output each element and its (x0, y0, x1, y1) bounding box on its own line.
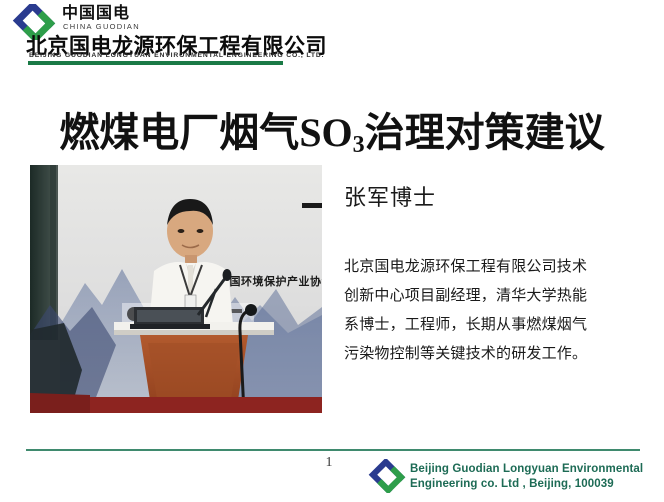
speaker-bio-line: 创新中心项目副经理，清华大学热能 (344, 281, 644, 310)
speaker-bio: 北京国电龙源环保工程有限公司技术 创新中心项目副经理，清华大学热能 系博士，工程… (344, 252, 644, 368)
title-part-2: 治理对策建议 (365, 110, 605, 156)
company-name-en: BEIJING GUODIAN LONGYUAN ENVIRONMENTAL E… (29, 52, 324, 59)
footer-address-line-1: Beijing Guodian Longyuan Environmental (410, 462, 643, 477)
title-part-1: 燃煤电厂烟气 (59, 110, 299, 156)
title-formula-subscript: 3 (353, 132, 365, 158)
footer-address: Beijing Guodian Longyuan Environmental E… (410, 462, 643, 492)
footer-divider (26, 449, 640, 451)
speaker-name: 张军博士 (344, 180, 436, 212)
header-green-rule (28, 61, 283, 65)
speaker-bio-line: 北京国电龙源环保工程有限公司技术 (344, 252, 644, 281)
title-formula-base: SO (299, 110, 352, 155)
presentation-slide: 中国国电 CHINA GUODIAN 北京国电龙源环保工程有限公司 BEIJIN… (0, 0, 664, 502)
brand-name-cn: 中国国电 (62, 4, 130, 22)
letterhead-header: 中国国电 CHINA GUODIAN 北京国电龙源环保工程有限公司 BEIJIN… (0, 0, 664, 70)
footer-address-line-2: Engineering co. Ltd , Beijing, 100039 (410, 477, 643, 492)
page-title: 燃煤电厂烟气SO3治理对策建议 (0, 105, 664, 167)
speaker-photo: 中国环境保护产业协会 (30, 165, 322, 413)
speaker-bio-line: 系博士，工程师，长期从事燃煤烟气 (344, 310, 644, 339)
svg-text:中国环境保护产业协会: 中国环境保护产业协会 (218, 274, 322, 288)
page-number: 1 (318, 455, 340, 471)
speaker-bio-line: 污染物控制等关键技术的研发工作。 (344, 339, 644, 368)
guodian-diamond-g-logo-icon (368, 459, 406, 493)
